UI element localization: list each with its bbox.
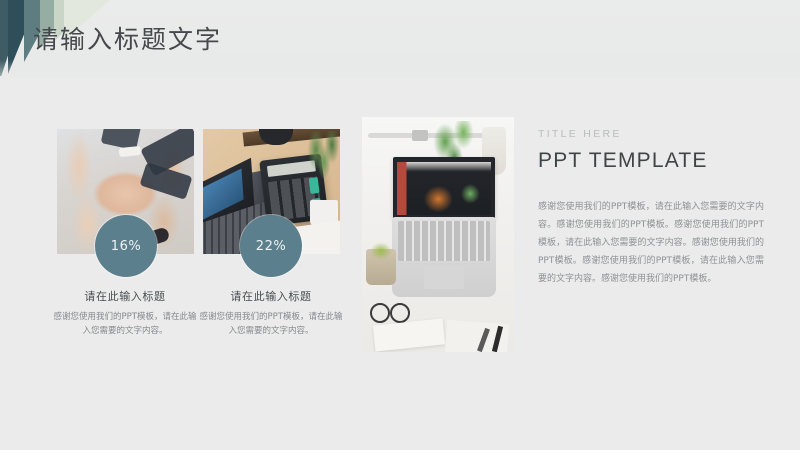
- header-fade: [0, 60, 800, 76]
- caption-block-1: 请在此输入标题 感谢您使用我们的PPT模板，请在此输入您需要的文字内容。: [52, 288, 198, 339]
- photo-detail-glasses: [370, 299, 412, 321]
- eyebrow-text: TITLE HERE: [538, 128, 764, 140]
- caption-title-2: 请在此输入标题: [198, 288, 344, 304]
- percentage-badge-1: 16%: [95, 215, 157, 277]
- caption-title-1: 请在此输入标题: [52, 288, 198, 304]
- photo-detail-plant: [304, 131, 340, 193]
- caption-body-2: 感谢您使用我们的PPT模板，请在此输入您需要的文字内容。: [198, 311, 344, 339]
- photo-detail-potted-plant: [366, 249, 396, 285]
- caption-block-2: 请在此输入标题 感谢您使用我们的PPT模板，请在此输入您需要的文字内容。: [198, 288, 344, 339]
- percentage-badge-2: 22%: [240, 215, 302, 277]
- photo-detail-laptop-keyboard: [398, 221, 490, 261]
- headline-text: PPT TEMPLATE: [538, 149, 764, 173]
- caption-body-1: 感谢您使用我们的PPT模板，请在此输入您需要的文字内容。: [52, 311, 198, 339]
- presentation-slide: 请输入标题文字: [0, 0, 800, 450]
- right-text-column: TITLE HERE PPT TEMPLATE 感谢您使用我们的PPT模板，请在…: [538, 128, 764, 288]
- laptop-desk-flatlay-photo: [362, 117, 514, 352]
- photo-detail-trackpad: [424, 267, 464, 289]
- photo-card-flatlay: [362, 117, 514, 352]
- photo-detail-screen-content: [397, 162, 491, 215]
- body-paragraph: 感谢您使用我们的PPT模板，请在此输入您需要的文字内容。感谢您使用我们的PPT模…: [538, 198, 764, 288]
- photo-detail-notebook: [373, 318, 445, 351]
- photo-detail-cuff: [119, 146, 142, 157]
- photo-detail-sleeve-lower-right: [139, 162, 192, 200]
- photo-detail-laptop-screen: [393, 157, 495, 219]
- slide-title: 请输入标题文字: [33, 20, 222, 56]
